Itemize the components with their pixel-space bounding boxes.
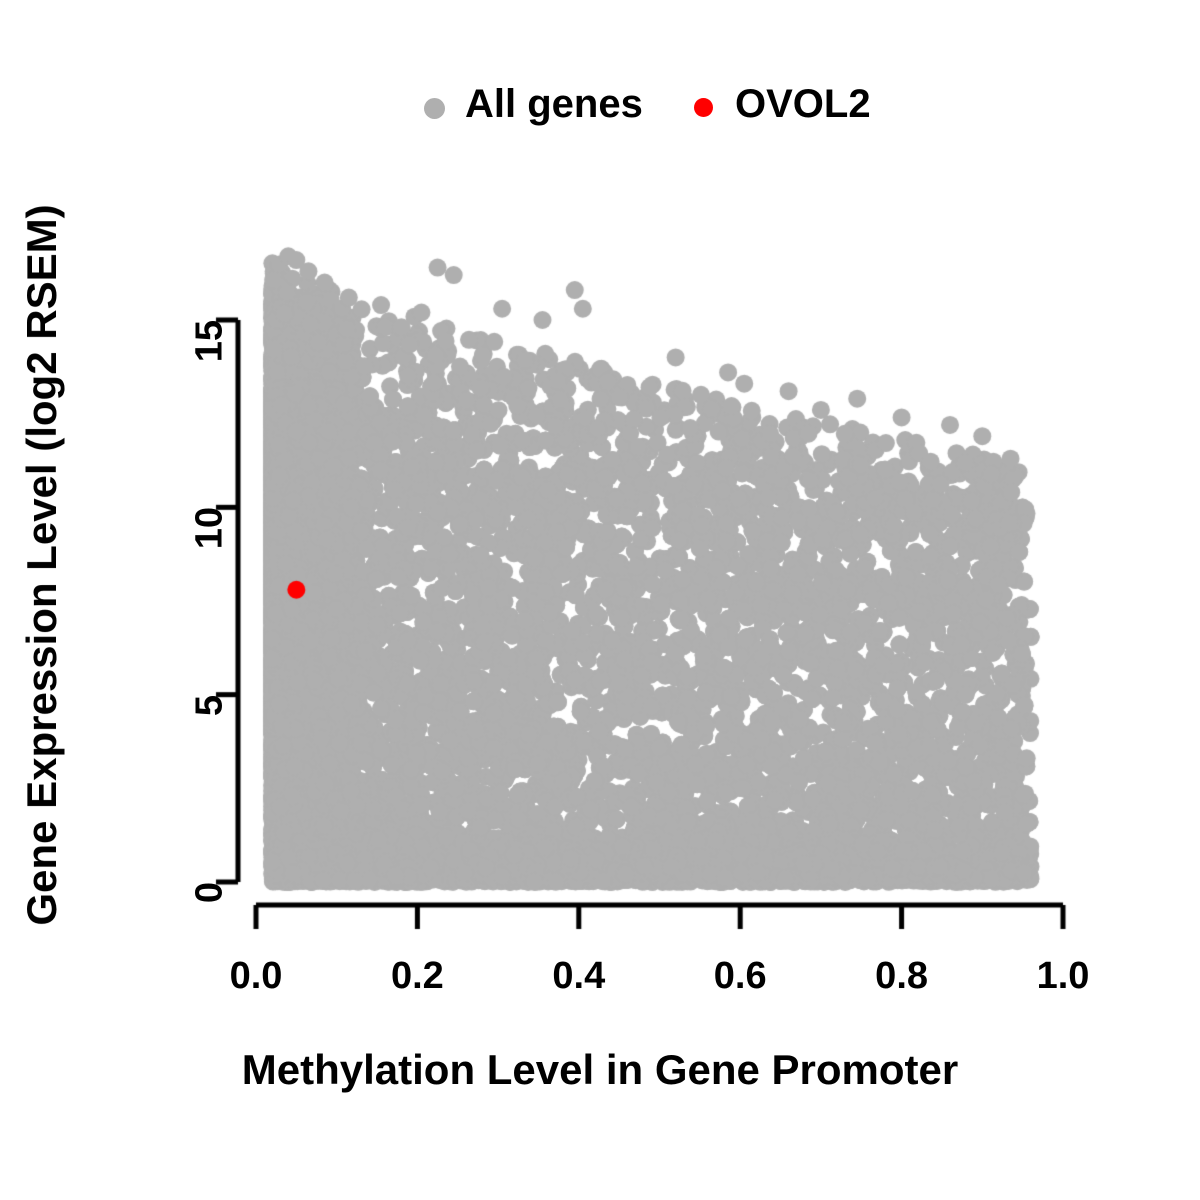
legend-label-all-genes: All genes: [465, 82, 643, 127]
y-tick-label-2: 10: [189, 507, 232, 549]
y-tick-label-0: 0: [189, 882, 232, 903]
x-axis-title: Methylation Level in Gene Promoter: [242, 1046, 958, 1094]
x-tick-label-4: 0.8: [875, 955, 928, 998]
y-tick-label-3: 15: [189, 320, 232, 362]
x-tick-label-1: 0.2: [391, 955, 444, 998]
legend-marker-all-genes: [424, 98, 445, 119]
x-tick-label-0: 0.0: [230, 955, 283, 998]
scatter-plot-canvas: [0, 0, 1200, 1200]
x-tick-label-5: 1.0: [1037, 955, 1090, 998]
x-tick-label-3: 0.6: [714, 955, 767, 998]
x-tick-label-2: 0.4: [552, 955, 605, 998]
legend-marker-ovol2: [694, 98, 713, 117]
chart-page: All genes OVOL2 Methylation Level in Gen…: [0, 0, 1200, 1200]
y-tick-label-1: 5: [189, 695, 232, 716]
y-axis-title: Gene Expression Level (log2 RSEM): [18, 204, 66, 925]
legend-label-ovol2: OVOL2: [735, 82, 871, 127]
